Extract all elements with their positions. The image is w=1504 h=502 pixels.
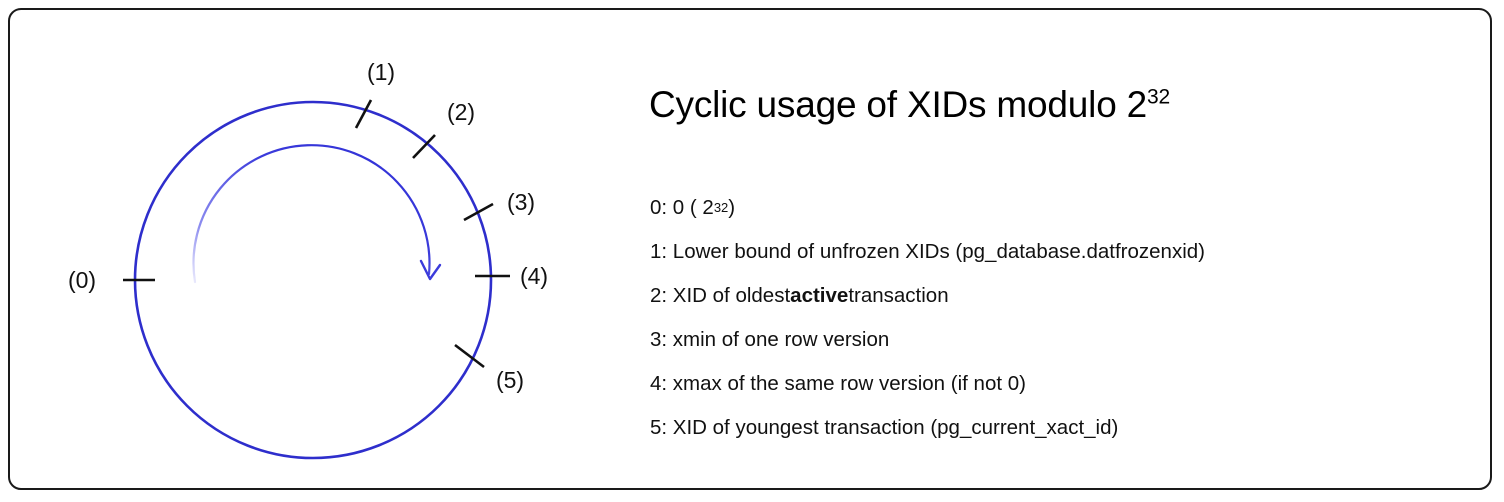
legend-item-4: 4: xmax of the same row version (if not … [650, 362, 1205, 406]
tick-group-2: (2) [413, 99, 475, 158]
slide-frame: (0) (1) (2) (3) [8, 8, 1492, 490]
tick-group-0: (0) [68, 267, 155, 293]
legend-item-5-pre: 5: XID of youngest transaction (pg_curre… [650, 418, 1118, 439]
page-title-text: Cyclic usage of XIDs modulo 2 [649, 84, 1147, 125]
xid-cycle-circle [135, 102, 491, 458]
tick-group-4: (4) [475, 263, 548, 289]
tick-label-4: (4) [520, 263, 548, 289]
cyclic-xid-diagram: (0) (1) (2) (3) [40, 30, 610, 495]
tick-label-1: (1) [367, 59, 395, 85]
legend-item-0: 0: 0 ( 232 ) [650, 186, 1205, 230]
tick-label-2: (2) [447, 99, 475, 125]
cycle-direction-arrow-arc [193, 145, 429, 282]
legend-item-2-tail: transaction [848, 286, 948, 307]
legend-item-0-post: ) [728, 198, 735, 219]
tick-label-3: (3) [507, 189, 535, 215]
legend-item-5: 5: XID of youngest transaction (pg_curre… [650, 406, 1205, 450]
tick-mark-1 [356, 100, 371, 128]
legend-item-1: 1: Lower bound of unfrozen XIDs (pg_data… [650, 230, 1205, 274]
tick-group-1: (1) [356, 59, 395, 128]
text-panel: Cyclic usage of XIDs modulo 232 0: 0 ( 2… [649, 68, 1479, 468]
legend-item-3-pre: 3: xmin of one row version [650, 330, 889, 351]
legend-item-4-pre: 4: xmax of the same row version (if not … [650, 374, 1026, 395]
page-title-exponent: 32 [1147, 86, 1170, 109]
legend-item-2: 2: XID of oldest active transaction [650, 274, 1205, 318]
legend-item-0-pre: 0: 0 ( 2 [650, 198, 714, 219]
page-title: Cyclic usage of XIDs modulo 232 [649, 86, 1170, 123]
legend-item-2-pre: 2: XID of oldest [650, 286, 790, 307]
tick-label-0: (0) [68, 267, 96, 293]
tick-group-5: (5) [455, 345, 524, 393]
legend-item-1-pre: 1: Lower bound of unfrozen XIDs (pg_data… [650, 242, 1205, 263]
legend-item-2-emphasis: active [790, 286, 848, 307]
tick-label-5: (5) [496, 367, 524, 393]
slide-root: (0) (1) (2) (3) [0, 0, 1504, 502]
legend-item-3: 3: xmin of one row version [650, 318, 1205, 362]
legend-list: 0: 0 ( 232 ) 1: Lower bound of unfrozen … [650, 186, 1205, 450]
